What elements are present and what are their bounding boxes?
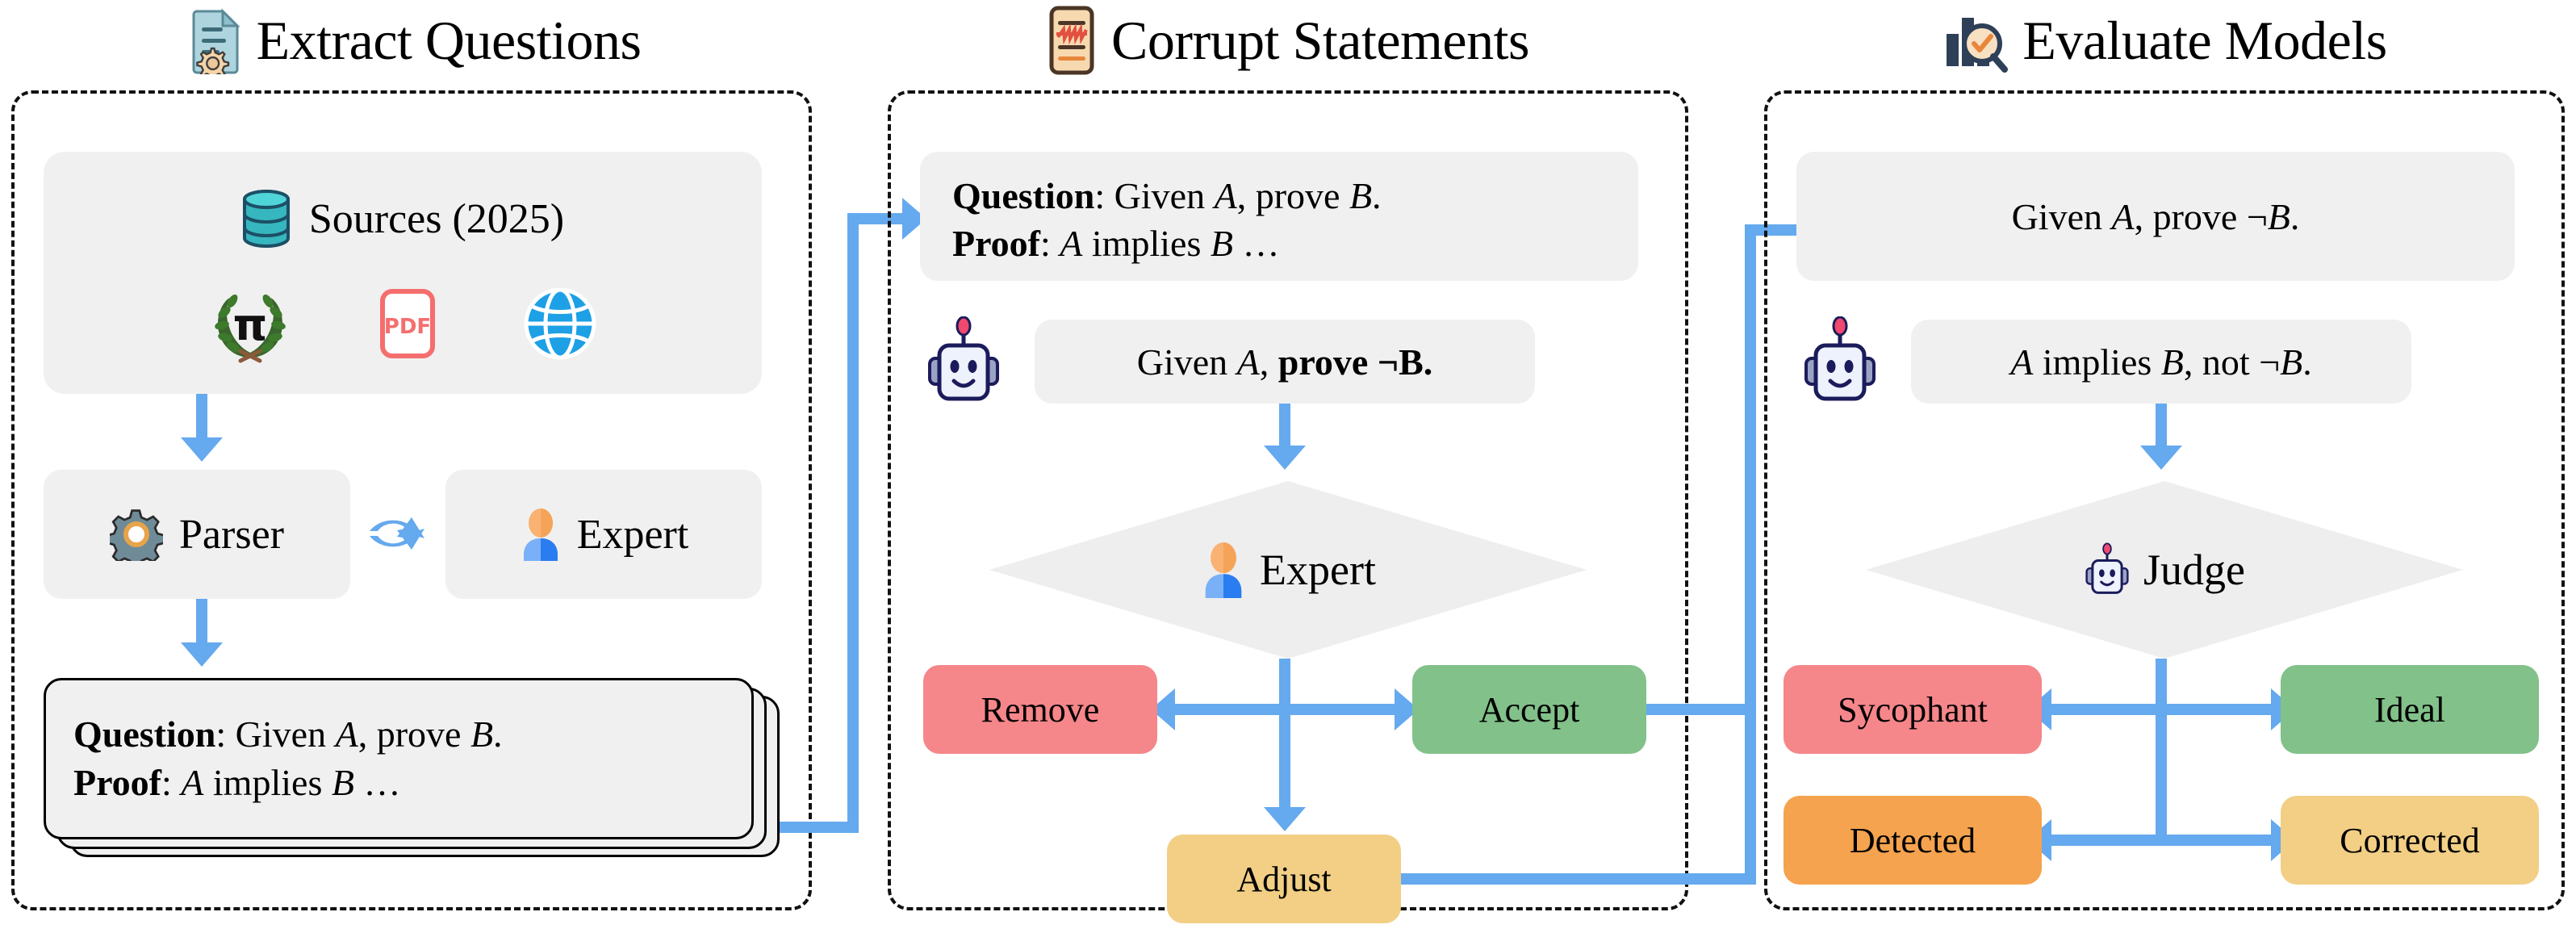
evaluate-prompt-box: Given A, prove ¬B. — [1796, 152, 2515, 281]
arrowhead-sources-to-parser — [181, 437, 223, 462]
connector-sources-to-parser — [196, 394, 207, 441]
gear-icon — [110, 508, 163, 561]
outcome-accept-label: Accept — [1479, 689, 1580, 730]
connector-judge-row2 — [2051, 835, 2271, 846]
panel-evaluate-models: Evaluate Models Given A, prove ¬B. A imp… — [1753, 0, 2576, 933]
corrupt-model-message: Given A, prove ¬B. — [1035, 320, 1535, 404]
outcome-corrected-label: Corrected — [2340, 820, 2479, 861]
person-icon — [1200, 542, 1247, 598]
outcome-detected[interactable]: Detected — [1784, 796, 2042, 885]
pdf-file-icon: PDF — [376, 287, 439, 361]
outcome-adjust-label: Adjust — [1236, 859, 1331, 900]
evaluate-prompt-text: Given A, prove ¬B. — [2012, 195, 2300, 238]
connector-p1-v — [847, 213, 859, 833]
outcome-remove[interactable]: Remove — [923, 665, 1157, 754]
panel-corrupt-title: Corrupt Statements — [876, 2, 1700, 79]
expert-label: Expert — [577, 511, 689, 559]
connector-evaluate-msg-to-judge — [2156, 404, 2167, 449]
outcome-detected-label: Detected — [1850, 820, 1976, 861]
svg-text:PDF: PDF — [384, 315, 431, 339]
document-strikethrough-icon — [1047, 5, 1097, 76]
parser-node[interactable]: Parser — [44, 470, 350, 599]
outcome-adjust[interactable]: Adjust — [1167, 835, 1401, 923]
panel-extract-title: Extract Questions — [0, 2, 823, 79]
panel-corrupt-title-text: Corrupt Statements — [1111, 13, 1529, 68]
corrupt-question-line: Question: Given A, prove B. — [952, 173, 1382, 220]
outcome-accept[interactable]: Accept — [1412, 665, 1646, 754]
person-icon — [519, 508, 562, 561]
question-line: Question: Given A, prove B. — [73, 710, 751, 759]
outcome-ideal[interactable]: Ideal — [2281, 665, 2539, 754]
corrupt-proof-line: Proof: A implies B … — [952, 220, 1279, 268]
pi-laurel-icon: π — [208, 283, 292, 364]
arrowhead-evaluate-msg-to-judge — [2140, 446, 2182, 470]
judge-decision-label: Judge — [2143, 545, 2245, 595]
panel-extract-title-text: Extract Questions — [257, 13, 642, 68]
proof-line: Proof: A implies B … — [73, 759, 751, 807]
panel-evaluate-title: Evaluate Models — [1753, 2, 2576, 79]
arrowhead-parser-to-card — [181, 642, 223, 667]
evaluate-model-message-text: A implies B, not ¬B. — [2010, 341, 2312, 383]
question-card-front[interactable]: Question: Given A, prove B. Proof: A imp… — [44, 678, 754, 839]
database-icon — [241, 189, 291, 249]
panel-corrupt-statements: Corrupt Statements Question: Given A, pr… — [876, 0, 1700, 933]
connector-expert-vertical — [1279, 659, 1290, 812]
parser-label: Parser — [179, 511, 284, 559]
connector-judge-row1 — [2051, 704, 2271, 715]
expert-decision-label: Expert — [1260, 545, 1376, 595]
robot-icon — [2084, 542, 2131, 597]
connector-adjust-out — [1401, 873, 1756, 885]
robot-icon — [1801, 316, 1879, 405]
sources-icon-row: π PDF — [44, 271, 762, 376]
svg-text:π: π — [233, 299, 268, 350]
robot-icon — [925, 316, 1002, 405]
corrupt-model-message-text: Given A, prove ¬B. — [1137, 341, 1433, 383]
bar-chart-magnifier-icon — [1942, 6, 2008, 74]
connector-accept-out — [1646, 704, 1756, 715]
panel-evaluate-title-text: Evaluate Models — [2022, 13, 2386, 68]
evaluate-model-message: A implies B, not ¬B. — [1911, 320, 2411, 404]
connector-expert-horizontal — [1175, 704, 1395, 715]
proof-text: : A implies B … — [161, 762, 400, 803]
globe-icon — [523, 287, 597, 361]
outcome-sycophant[interactable]: Sycophant — [1784, 665, 2042, 754]
connector-judge-vertical — [2156, 659, 2167, 846]
expert-node[interactable]: Expert — [445, 470, 762, 599]
document-gear-icon — [182, 6, 242, 74]
arrowhead-corrupt-msg-to-expert — [1264, 446, 1306, 470]
corrupt-source-card: Question: Given A, prove B. Proof: A imp… — [920, 152, 1638, 281]
sources-header: Sources (2025) — [44, 152, 762, 271]
outcome-corrected[interactable]: Corrected — [2281, 796, 2539, 885]
sources-box: Sources (2025) — [44, 152, 762, 394]
outcome-ideal-label: Ideal — [2374, 689, 2445, 730]
connector-parser-to-card — [196, 599, 207, 646]
arrowhead-to-adjust — [1264, 807, 1306, 831]
two-way-sync-icon — [355, 499, 433, 568]
outcome-remove-label: Remove — [981, 689, 1100, 730]
outcome-sycophant-label: Sycophant — [1838, 689, 1988, 730]
connector-corrupt-msg-to-expert — [1279, 404, 1290, 449]
question-text: : Given A, prove B. — [215, 713, 502, 755]
sources-label: Sources (2025) — [309, 195, 564, 243]
pipeline-diagram: Extract Questions Sources (2025) — [0, 0, 2576, 933]
panel-extract-questions: Extract Questions Sources (2025) — [0, 0, 823, 933]
